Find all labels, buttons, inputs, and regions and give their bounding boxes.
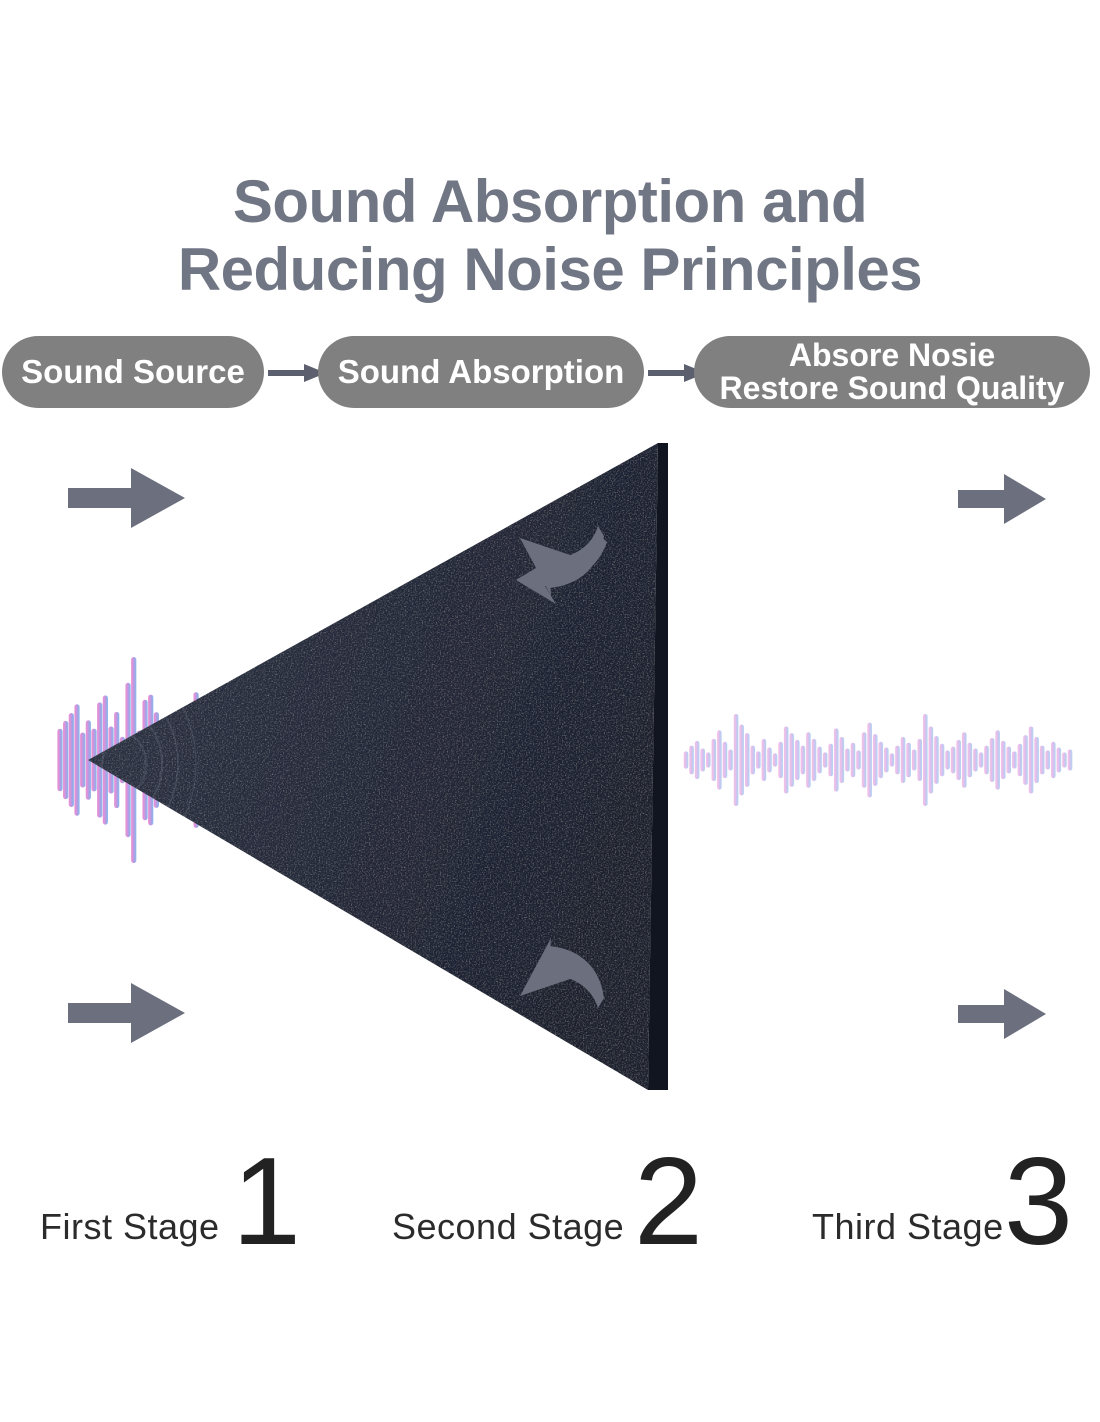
flow-step-label: Sound Source bbox=[21, 353, 245, 391]
flow-step-label: Sound Absorption bbox=[338, 353, 625, 391]
stage-label: First Stage bbox=[40, 1206, 220, 1248]
flow-step-absorb-noise: Absore Nosie Restore Sound Quality bbox=[694, 336, 1090, 408]
process-flow: Sound Source Sound Absorption Absore Nos… bbox=[0, 336, 1100, 408]
stage-third: Third Stage 3 bbox=[812, 1120, 1100, 1270]
flow-step-label-line-2: Restore Sound Quality bbox=[720, 372, 1065, 405]
stage-first: First Stage 1 bbox=[40, 1120, 320, 1270]
arrow-right-icon-top-left bbox=[68, 468, 185, 528]
arrow-right-icon-top-right bbox=[958, 474, 1046, 524]
arrow-right-icon-bottom-left bbox=[68, 983, 185, 1043]
page-title: Sound Absorption and Reducing Noise Prin… bbox=[0, 168, 1100, 304]
stage-label: Second Stage bbox=[392, 1206, 624, 1248]
flow-step-sound-absorption: Sound Absorption bbox=[318, 336, 644, 408]
flow-step-label-line-1: Absore Nosie bbox=[789, 339, 995, 372]
stage-number: 1 bbox=[232, 1140, 301, 1264]
outgoing-sound-waveform bbox=[684, 714, 1073, 806]
arrow-right-icon-bottom-right bbox=[958, 989, 1046, 1039]
flow-step-sound-source: Sound Source bbox=[2, 336, 264, 408]
infographic-page: Sound Absorption and Reducing Noise Prin… bbox=[0, 0, 1100, 1422]
stage-second: Second Stage 2 bbox=[392, 1120, 722, 1270]
stage-number: 2 bbox=[634, 1140, 703, 1264]
stage-label: Third Stage bbox=[812, 1206, 1004, 1248]
page-title-line-1: Sound Absorption and bbox=[0, 168, 1100, 236]
stage-number: 3 bbox=[1004, 1140, 1073, 1264]
absorption-illustration bbox=[0, 420, 1100, 1120]
stage-labels: First Stage 1 Second Stage 2 Third Stage… bbox=[0, 1120, 1100, 1290]
page-title-line-2: Reducing Noise Principles bbox=[0, 236, 1100, 304]
